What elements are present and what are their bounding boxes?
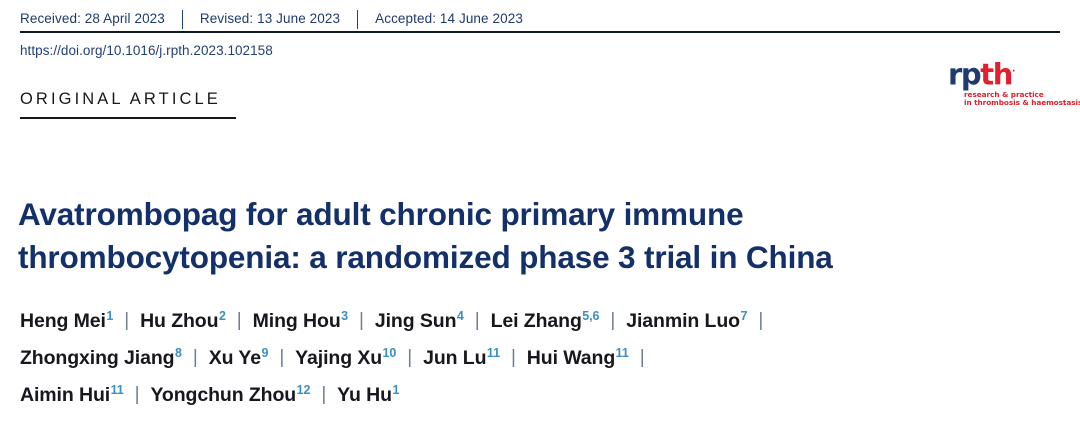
registered-mark-icon: · [1012,67,1015,77]
title-line-1: Avatrombopag for adult chronic primary i… [18,196,743,232]
logo-tagline: research & practice in thrombosis & haem… [942,91,1062,108]
author-name[interactable]: Yongchun Zhou [150,384,296,406]
author-separator: | [475,302,480,339]
logo-wordmark-red: th [980,58,1012,92]
author-separator: | [640,339,645,376]
author-name[interactable]: Yu Hu [337,384,392,406]
accepted-date: Accepted: 14 June 2023 [375,8,523,30]
history-divider [182,10,183,29]
author-affiliation-marker[interactable]: 12 [297,383,311,397]
article-type-rule [20,117,236,119]
author-separator: | [758,302,763,339]
author-name[interactable]: Aimin Hui [20,384,110,406]
author-name[interactable]: Lei Zhang [491,310,582,332]
author-name[interactable]: Yajing Xu [295,347,382,369]
author-affiliation-marker[interactable]: 11 [487,346,500,360]
author-affiliation-marker[interactable]: 1 [392,383,399,397]
author-affiliation-marker[interactable]: 8 [175,346,182,360]
author-line: Zhongxing Jiang8|Xu Ye9|Yajing Xu10|Jun … [20,340,1070,377]
author-separator: | [193,339,198,376]
author-name[interactable]: Hu Zhou [140,310,218,332]
article-type-label: ORIGINAL ARTICLE [20,90,221,109]
author-separator: | [610,302,615,339]
author-name[interactable]: Xu Ye [209,347,261,369]
author-line: Heng Mei1|Hu Zhou2|Ming Hou3|Jing Sun4|L… [20,303,1070,340]
author-separator: | [407,339,412,376]
author-name[interactable]: Zhongxing Jiang [20,347,175,369]
author-separator: | [279,339,284,376]
author-affiliation-marker[interactable]: 11 [616,346,629,360]
article-first-page: Received: 28 April 2023 Revised: 13 June… [0,0,1080,441]
rpth-journal-logo: rpth· research & practice in thrombosis … [942,58,1062,108]
author-affiliation-marker[interactable]: 1 [106,309,113,323]
author-affiliation-marker[interactable]: 11 [111,383,124,397]
revised-date: Revised: 13 June 2023 [200,8,340,30]
history-divider [357,10,358,29]
author-name[interactable]: Jianmin Luo [626,310,740,332]
author-separator: | [124,302,129,339]
doi-link[interactable]: https://doi.org/10.1016/j.rpth.2023.1021… [20,43,273,58]
author-affiliation-marker[interactable]: 7 [740,309,747,323]
author-separator: | [321,376,326,413]
logo-wordmark: rpth· [942,58,1062,90]
author-name[interactable]: Hui Wang [527,347,615,369]
author-affiliation-marker[interactable]: 9 [261,346,268,360]
author-separator: | [135,376,140,413]
author-affiliation-marker[interactable]: 10 [383,346,397,360]
author-separator: | [511,339,516,376]
author-line: Aimin Hui11|Yongchun Zhou12|Yu Hu1 [20,377,1070,414]
author-separator: | [237,302,242,339]
logo-tagline-line2: in thrombosis & haemostasis [964,99,1062,107]
author-affiliation-marker[interactable]: 3 [341,309,348,323]
page-title: Avatrombopag for adult chronic primary i… [18,193,1063,279]
author-affiliation-marker[interactable]: 4 [457,309,464,323]
author-affiliation-marker[interactable]: 2 [219,309,226,323]
author-name[interactable]: Jing Sun [375,310,457,332]
author-list: Heng Mei1|Hu Zhou2|Ming Hou3|Jing Sun4|L… [20,303,1070,414]
received-date: Received: 28 April 2023 [20,8,165,30]
publication-history: Received: 28 April 2023 Revised: 13 June… [20,8,523,30]
author-affiliation-marker[interactable]: 5,6 [582,309,599,323]
author-name[interactable]: Ming Hou [253,310,341,332]
author-separator: | [359,302,364,339]
title-line-2: thrombocytopenia: a randomized phase 3 t… [18,239,833,275]
author-name[interactable]: Heng Mei [20,310,106,332]
logo-wordmark-dark: rp [948,58,980,92]
author-name[interactable]: Jun Lu [423,347,486,369]
header-rule [20,31,1060,33]
